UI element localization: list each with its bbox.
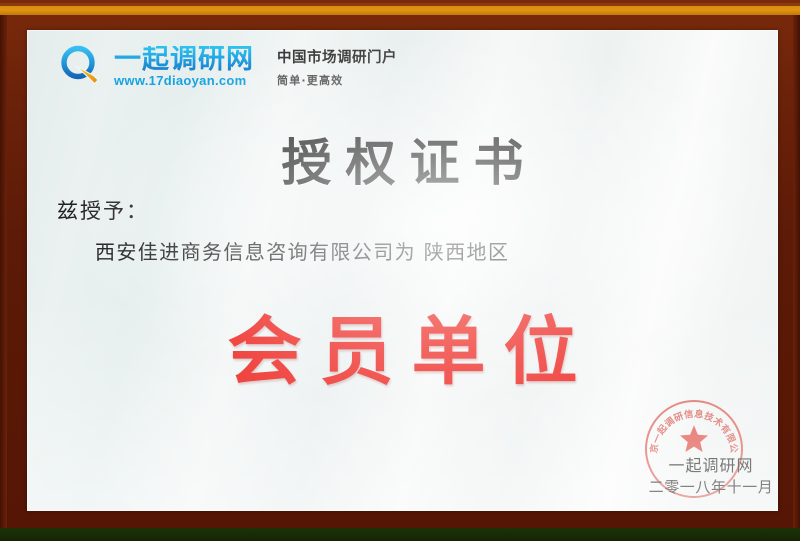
seal-overlay-text: 一起调研网 二零一八年十一月 bbox=[641, 454, 778, 499]
seal-org-name: 一起调研网 bbox=[641, 454, 778, 477]
frame-edge-right bbox=[793, 15, 800, 528]
brand-wordmark: 一起调研网 bbox=[114, 46, 254, 73]
recipient-line: 西安佳进商务信息咨询有限公司为 陕西地区 bbox=[95, 236, 509, 265]
frame-gold-band bbox=[0, 6, 800, 15]
seal-date: 二零一八年十一月 bbox=[641, 477, 778, 499]
brand-url: www.17diaoyan.com bbox=[114, 74, 254, 87]
grant-line: 兹授予： bbox=[57, 195, 149, 225]
certificate-title: 授权证书 bbox=[27, 123, 778, 195]
brand-header: 一起调研网 www.17diaoyan.com 中国市场调研门户 简单·更高效 bbox=[57, 42, 397, 90]
brand-wordmark-block: 一起调研网 www.17diaoyan.com bbox=[114, 46, 254, 87]
frame-edge-left bbox=[0, 15, 7, 528]
brand-tagline-sub: 简单·更高效 bbox=[277, 72, 397, 88]
magnifier-q-logo-icon bbox=[57, 42, 105, 90]
frame-bottom-strip bbox=[0, 528, 800, 541]
certificate-frame: 一起调研网 www.17diaoyan.com 中国市场调研门户 简单·更高效 … bbox=[0, 0, 800, 541]
award-title: 会员单位 bbox=[27, 292, 778, 399]
brand-tagline-main: 中国市场调研门户 bbox=[277, 46, 397, 67]
brand-tagline-block: 中国市场调研门户 简单·更高效 bbox=[277, 44, 397, 88]
five-point-star-icon bbox=[679, 424, 709, 454]
certificate-paper: 一起调研网 www.17diaoyan.com 中国市场调研门户 简单·更高效 … bbox=[27, 30, 778, 511]
